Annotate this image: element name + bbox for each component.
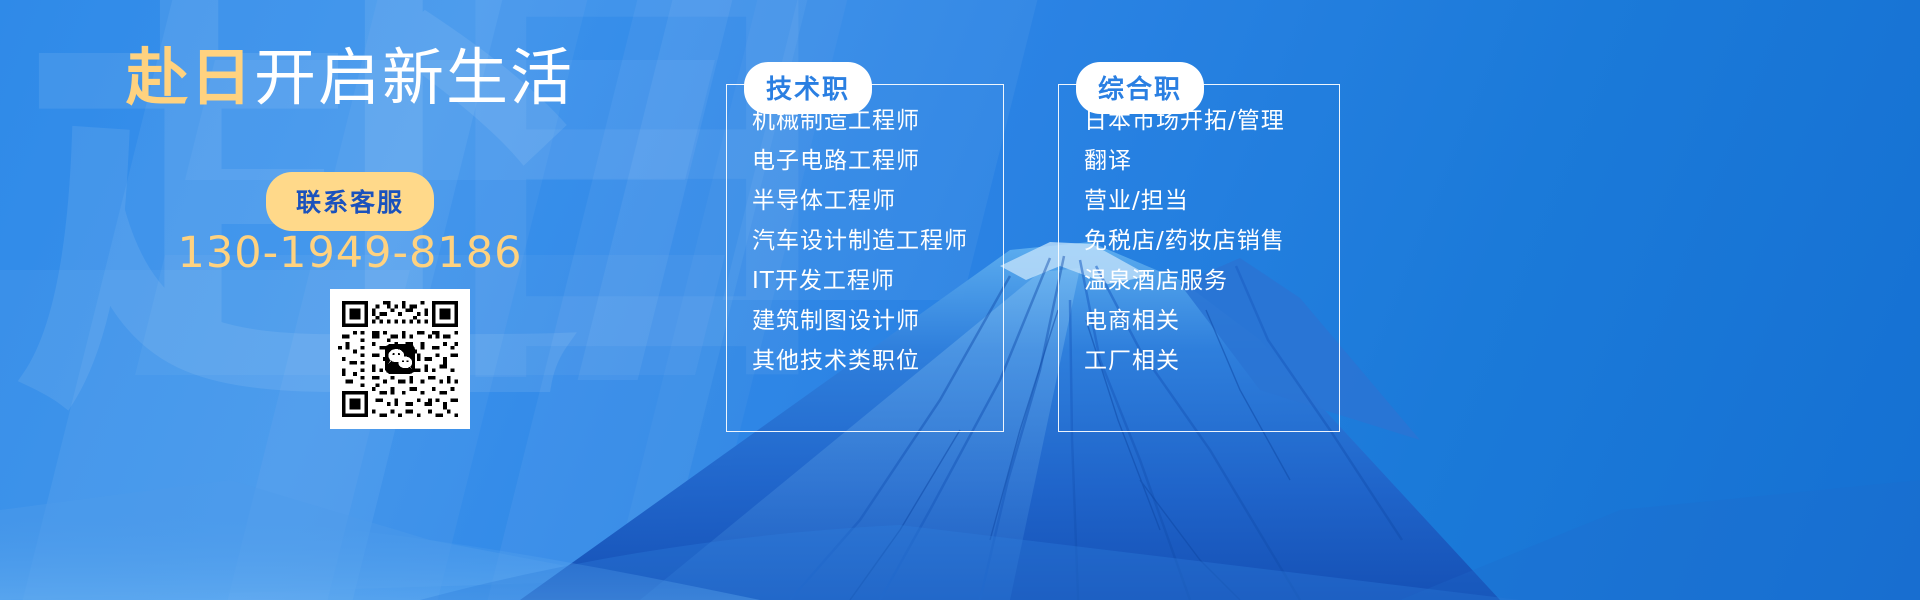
wechat-qr-code[interactable] — [330, 289, 470, 429]
list-item[interactable]: 营业/担当 — [1084, 190, 1340, 213]
panel-badge-technical: 技术职 — [744, 62, 872, 114]
headline-accent: 赴日 — [126, 41, 254, 114]
list-item[interactable]: 其他技术类职位 — [752, 350, 1004, 373]
list-item[interactable]: 半导体工程师 — [752, 190, 1004, 213]
contact-support-button[interactable]: 联系客服 — [266, 172, 434, 231]
job-list-general: 日本市场开拓/管理 翻译 营业/担当 免税店/药妆店销售 温泉酒店服务 电商相关… — [1058, 84, 1340, 390]
list-item[interactable]: 建筑制图设计师 — [752, 310, 1004, 333]
page-title: 赴日开启新生活 — [0, 44, 700, 112]
list-item[interactable]: 电子电路工程师 — [752, 150, 1004, 173]
job-list-technical: 机械制造工程师 电子电路工程师 半导体工程师 汽车设计制造工程师 IT开发工程师… — [726, 84, 1004, 390]
panel-badge-general: 综合职 — [1076, 62, 1204, 114]
list-item[interactable]: 温泉酒店服务 — [1084, 270, 1340, 293]
headline-rest: 开启新生活 — [254, 41, 574, 114]
list-item[interactable]: 汽车设计制造工程师 — [752, 230, 1004, 253]
list-item[interactable]: 免税店/药妆店销售 — [1084, 230, 1340, 253]
left-contact-column: 赴日开启新生活 联系客服 130-1949-8186 — [0, 0, 700, 600]
qr-code-icon — [338, 297, 462, 421]
list-item[interactable]: IT开发工程师 — [752, 270, 1004, 293]
promo-banner: 赴 日 — [0, 0, 1920, 600]
list-item[interactable]: 翻译 — [1084, 150, 1340, 173]
list-item[interactable]: 工厂相关 — [1084, 350, 1340, 373]
cta-container: 联系客服 — [0, 172, 700, 231]
list-item[interactable]: 电商相关 — [1084, 310, 1340, 333]
phone-number[interactable]: 130-1949-8186 — [0, 228, 700, 278]
